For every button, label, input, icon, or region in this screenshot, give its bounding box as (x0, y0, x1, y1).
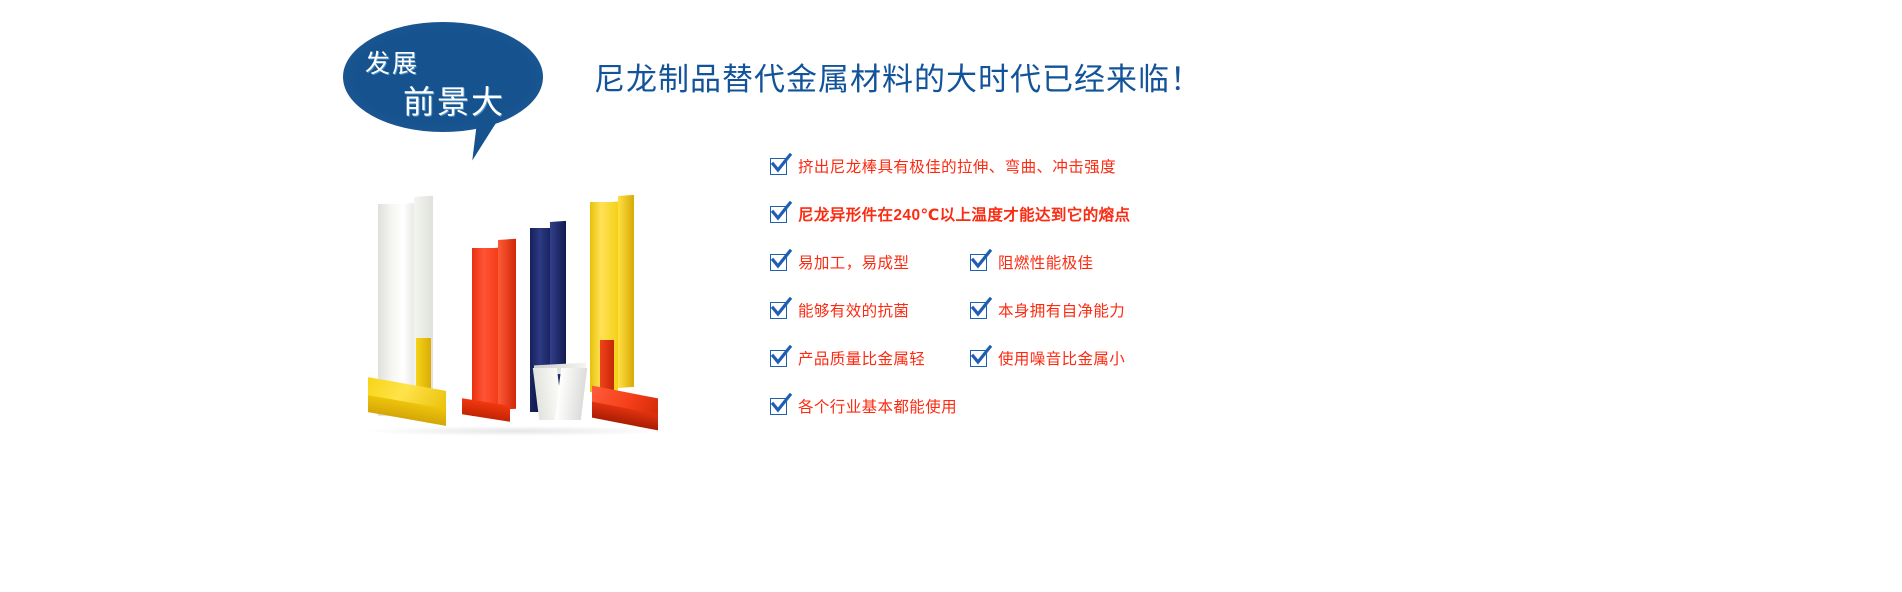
list-item: 产品质量比金属轻 (770, 347, 925, 369)
list-item: 各个行业基本都能使用 (770, 395, 957, 417)
feature-checklist: 挤出尼龙棒具有极佳的拉伸、弯曲、冲击强度 尼龙异形件在240℃以上温度才能达到它… (770, 155, 1390, 430)
list-item-label: 能够有效的抗菌 (798, 299, 909, 321)
red-u-channel-front (472, 248, 498, 416)
list-item-label: 产品质量比金属轻 (798, 347, 925, 369)
checkbox-checked-icon (970, 254, 987, 271)
white-v-channel-right (555, 368, 587, 420)
promo-banner: 发展 前景大 尼龙制品替代金属材料的大时代已经来临！ (0, 0, 1902, 592)
checkbox-checked-icon (970, 350, 987, 367)
list-item: 挤出尼龙棒具有极佳的拉伸、弯曲、冲击强度 (770, 155, 1116, 177)
list-item-label: 阻燃性能极佳 (998, 251, 1093, 273)
red-u-channel-side (498, 239, 516, 410)
checkbox-checked-icon (770, 206, 787, 223)
checkbox-checked-icon (970, 302, 987, 319)
list-item: 易加工，易成型 (770, 251, 909, 273)
speech-bubble-line2: 前景大 (403, 77, 505, 123)
list-item: 尼龙异形件在240℃以上温度才能达到它的熔点 (770, 203, 1130, 225)
checkbox-checked-icon (770, 158, 787, 175)
product-shadow (366, 426, 666, 436)
checkbox-checked-icon (770, 302, 787, 319)
list-item: 使用噪音比金属小 (970, 347, 1125, 369)
yellow-tall-bar-side (618, 195, 634, 388)
list-item-label: 本身拥有自净能力 (998, 299, 1125, 321)
list-item: 本身拥有自净能力 (970, 299, 1125, 321)
list-item-label: 挤出尼龙棒具有极佳的拉伸、弯曲、冲击强度 (798, 155, 1116, 177)
list-item: 能够有效的抗菌 (770, 299, 909, 321)
list-item-label: 各个行业基本都能使用 (798, 395, 957, 417)
list-item-label: 尼龙异形件在240℃以上温度才能达到它的熔点 (798, 203, 1130, 225)
checkbox-checked-icon (770, 350, 787, 367)
checkbox-checked-icon (770, 398, 787, 415)
speech-bubble: 发展 前景大 (343, 22, 553, 162)
list-item-label: 易加工，易成型 (798, 251, 909, 273)
product-image (360, 188, 700, 456)
page-title: 尼龙制品替代金属材料的大时代已经来临！ (594, 54, 1202, 99)
checkbox-checked-icon (770, 254, 787, 271)
list-item: 阻燃性能极佳 (970, 251, 1093, 273)
speech-bubble-line1: 发展 (365, 44, 419, 80)
list-item-label: 使用噪音比金属小 (998, 347, 1125, 369)
